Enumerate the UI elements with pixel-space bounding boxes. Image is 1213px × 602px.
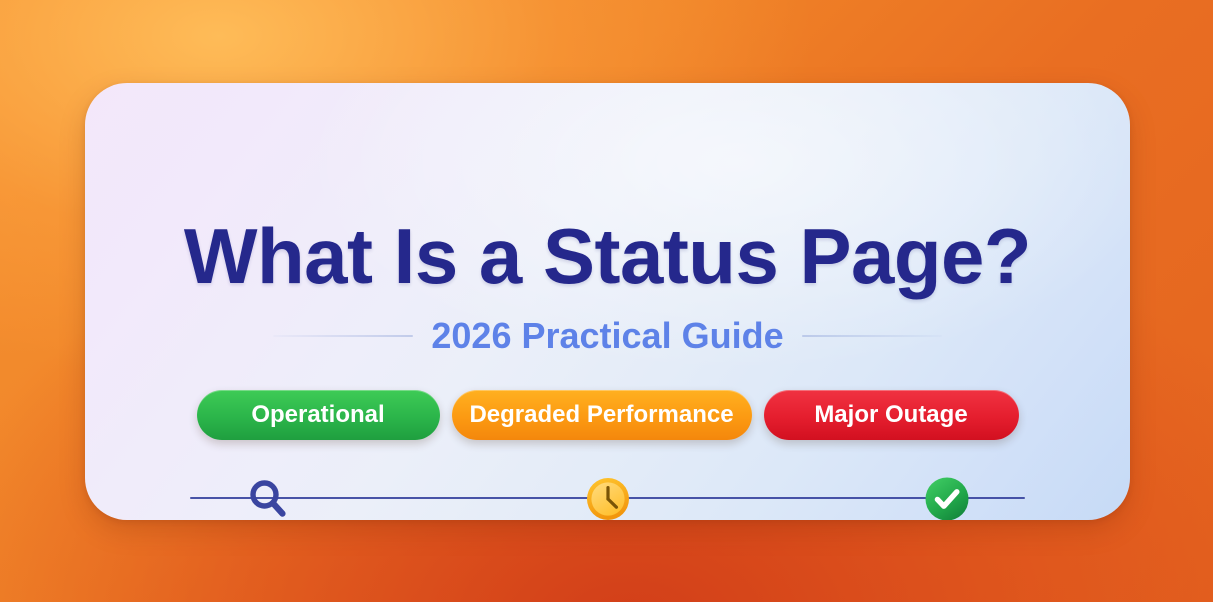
content-card: What Is a Status Page? 2026 Practical Gu… [85,83,1130,520]
timeline-node-monitoring[interactable] [584,475,632,520]
incident-lifecycle-timeline: Investigating Monitoring Resolved [190,475,1025,520]
status-badge-operational-label: Operational [251,401,384,429]
status-badge-degraded-label: Degraded Performance [469,401,733,429]
card-highlight-sheen [85,83,1130,520]
status-badge-outage-label: Major Outage [814,401,967,429]
subtitle-rule-left [273,335,413,337]
page-title: What Is a Status Page? [85,217,1130,295]
timeline-node-row [190,475,1025,520]
timeline-node-investigating[interactable] [244,475,292,520]
status-pill-group: Operational Degraded Performance Major O… [85,389,1130,441]
subtitle-row: 2026 Practical Guide [85,311,1130,361]
page-subtitle: 2026 Practical Guide [431,318,783,354]
magnifier-icon [245,476,291,520]
status-badge-outage[interactable]: Major Outage [764,390,1019,440]
check-circle-icon [924,476,970,520]
status-badge-operational[interactable]: Operational [197,390,440,440]
clock-icon [585,476,631,520]
timeline-node-resolved[interactable] [923,475,971,520]
status-badge-degraded[interactable]: Degraded Performance [452,390,752,440]
subtitle-rule-right [802,335,942,337]
infographic-canvas: What Is a Status Page? 2026 Practical Gu… [0,0,1213,602]
